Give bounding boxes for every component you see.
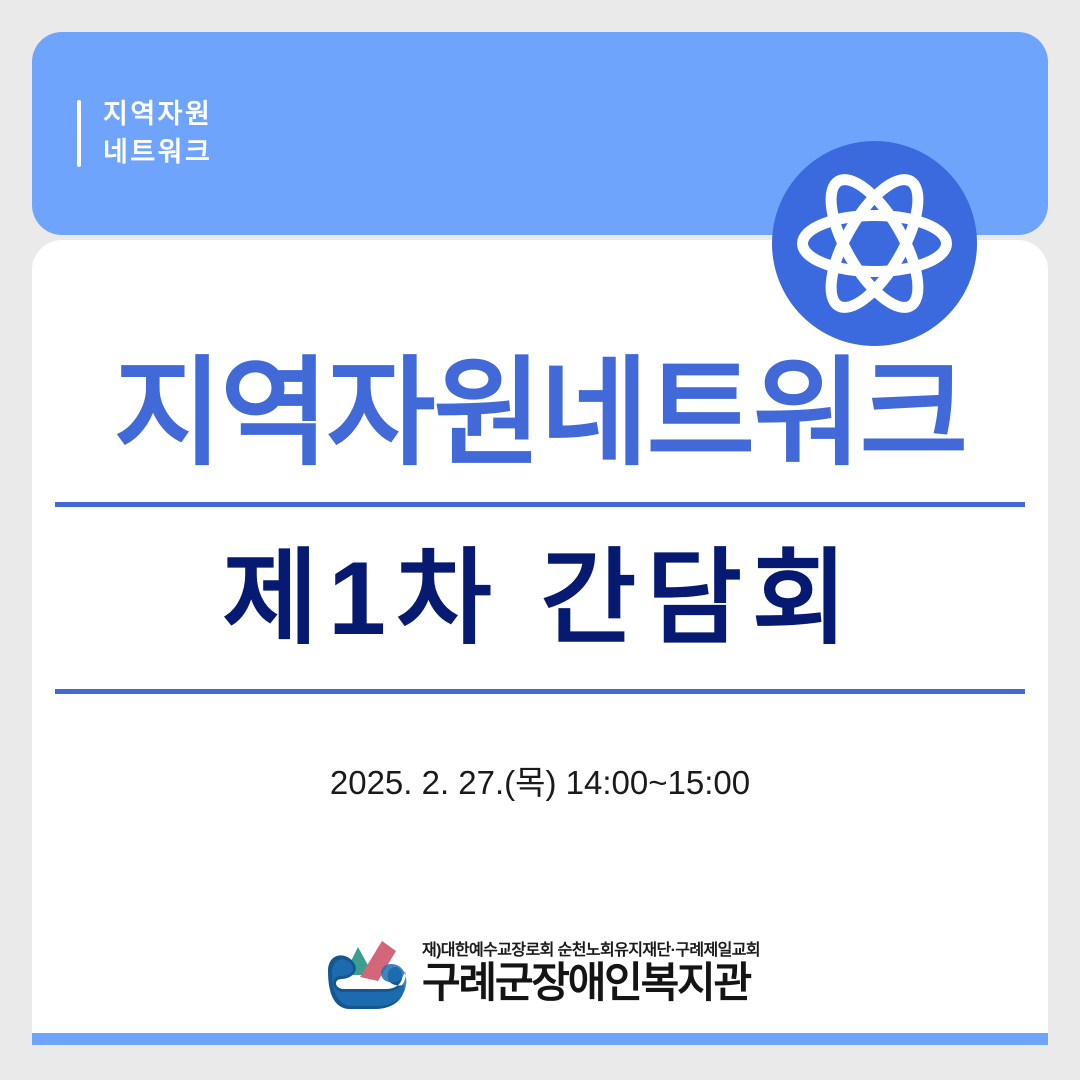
poster-canvas: 지역자원 네트워크 지역자원네트워크 제1차 간담회 2025. 2. 27.(… [0,0,1080,1080]
atom-network-icon [772,141,977,346]
eyebrow-line-2: 네트워크 [103,138,212,166]
headline-block: 지역자원네트워크 제1차 간담회 2025. 2. 27.(목) 14:00~1… [32,350,1048,804]
page-subtitle: 제1차 간담회 [32,541,1048,657]
eyebrow-accent-bar [77,100,81,167]
event-schedule: 2025. 2. 27.(목) 14:00~15:00 [32,756,1048,804]
divider-top [55,502,1025,507]
organisation-logo-text: 재)대한예수교장로회 순천노회유지재단·구례제일교회 구례군장애인복지관 [422,943,760,1005]
eyebrow-lines: 지역자원 네트워크 [103,100,212,167]
organisation-name: 구례군장애인복지관 [422,962,750,1005]
header-eyebrow: 지역자원 네트워크 [77,100,212,167]
page-title: 지역자원네트워크 [32,350,1048,480]
footer-accent-bar [32,1033,1048,1045]
eyebrow-line-1: 지역자원 [103,100,212,128]
divider-bottom [55,689,1025,694]
organisation-logo: 재)대한예수교장로회 순천노회유지재단·구례제일교회 구례군장애인복지관 [0,935,1080,1013]
organisation-affiliation: 재)대한예수교장로회 순천노회유지재단·구례제일교회 [422,943,760,959]
gurye-welfare-center-logo-icon [320,935,412,1013]
